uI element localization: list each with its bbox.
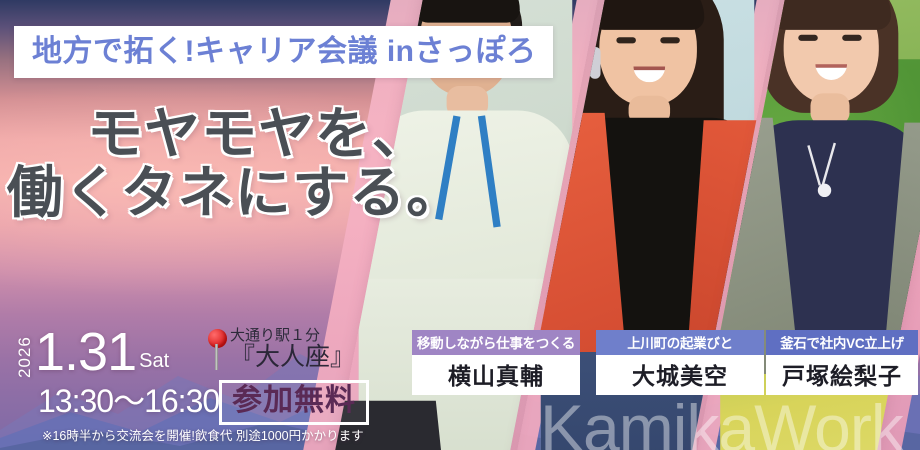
event-banner: 地方で拓く!キャリア会議 inさっぽろ モヤモヤを、 働くタネにする。 2026… [0, 0, 920, 450]
speaker-tag: 移動しながら仕事をつくる [412, 330, 580, 355]
event-date: 1.31 [35, 328, 136, 378]
event-title-band: 地方で拓く!キャリア会議 inさっぽろ [14, 26, 553, 78]
map-pin-icon [206, 329, 228, 373]
event-day-of-week: Sat [139, 350, 169, 373]
free-admission-badge: 参加無料 [219, 380, 369, 425]
venue-block: 大通り駅１分 『大人座』 [206, 327, 355, 373]
headline: モヤモヤを、 働くタネにする。 [0, 104, 470, 223]
venue-name: 『大人座』 [230, 343, 355, 372]
event-year: 2026 [16, 330, 33, 378]
event-title-text: 地方で拓く!キャリア会議 inさっぽろ [32, 37, 537, 67]
speaker-tag: 釜石で社内VC立上げ [766, 330, 918, 355]
venue-access: 大通り駅１分 [230, 327, 355, 344]
headline-line-2: 働くタネにする。 [0, 163, 470, 222]
event-note: ※16時半から交流会を開催!飲食代 別途1000円かかります [42, 425, 376, 444]
speaker-plate-3: 釜石で社内VC立上げ 戸塚絵梨子 [766, 330, 918, 395]
speaker-name: 大城美空 [596, 355, 764, 395]
speaker-tag: 上川町の起業びと [596, 330, 764, 355]
speaker-plate-1: 移動しながら仕事をつくる 横山真輔 [412, 330, 580, 395]
headline-line-1: モヤモヤを、 [0, 104, 470, 163]
speaker-name: 横山真輔 [412, 355, 580, 395]
speaker-name: 戸塚絵梨子 [766, 355, 918, 395]
speaker-plate-2: 上川町の起業びと 大城美空 [596, 330, 764, 395]
